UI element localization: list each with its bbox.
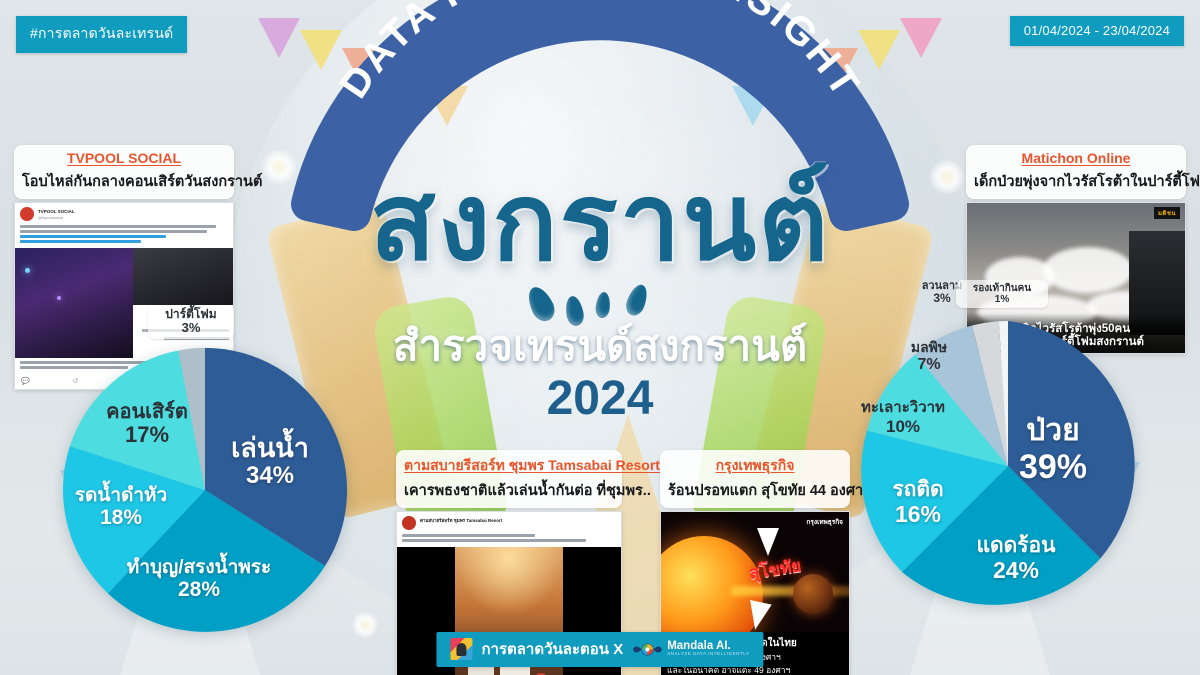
subtitle-year: 2024 xyxy=(290,371,910,426)
pie-chart-svg-right xyxy=(860,318,1156,614)
news-card-header: กรุงเทพธุรกิจ ร้อนปรอทแตก สุโขทัย 44 องศ… xyxy=(660,450,850,508)
news-card-header: ตามสบายรีสอร์ท ชุมพร Tamsabai Resort เคา… xyxy=(396,450,622,508)
news-card-header: TVPOOL SOCIAL โอบไหล่กันกลางคอนเสิร์ตวัน… xyxy=(14,145,234,199)
pie-chart-songkran-problems: ป่วย 39% แดดร้อน 24% รถติด 16% ทะเลาะวิว… xyxy=(860,318,1156,614)
news-headline: ร้อนปรอทแตก สุโขทัย 44 องศา xyxy=(668,479,842,502)
frangipani-icon xyxy=(352,612,378,638)
mandala-partner-block: Mandala AI. ANALYZE DATA INTELLIGENTLY xyxy=(632,641,749,658)
news-source-label: กรุงเทพธุรกิจ xyxy=(716,455,795,477)
post-body-text xyxy=(397,534,621,547)
mandala-emblem-icon xyxy=(632,641,662,658)
avatar xyxy=(20,207,34,221)
matichon-logo: มติชน xyxy=(1154,207,1180,219)
post-body-text xyxy=(15,225,233,248)
footer-brand-text: การตลาดวันละตอน X xyxy=(481,637,623,661)
pie-chart-songkran-activities: เล่นน้ำ 34% ทำบุญ/สรงน้ำพระ 28% รดน้ำดำห… xyxy=(60,345,350,635)
everyday-marketing-logo-icon xyxy=(450,638,472,660)
news-source-label: Matichon Online xyxy=(1022,150,1131,166)
frangipani-icon xyxy=(930,160,964,194)
krungthep-logo: กรุงเทพธุรกิจ xyxy=(806,517,843,527)
mandala-tagline: ANALYZE DATA INTELLIGENTLY xyxy=(667,652,749,657)
post-account-handle: @tvpoolsocial xyxy=(38,215,75,220)
reply-icon[interactable]: 💬 xyxy=(21,377,30,385)
news-source-label: ตามสบายรีสอร์ท ชุมพร Tamsabai Resort xyxy=(404,455,660,477)
news-headline: เคารพธงชาติแล้วเล่นน้ำกันต่อ ที่ชุมพร.. xyxy=(404,479,614,502)
footer-brand-bar: การตลาดวันละตอน X Mandala AI. ANALYZE DA… xyxy=(436,632,763,667)
pie-chart-svg-left xyxy=(60,345,350,635)
post-author-bar: ตามสบายรีสอร์ท ชุมพร Tamsabai Resort · xyxy=(397,512,621,534)
subtitle-text: สำรวจเทรนด์สงกรานต์ xyxy=(290,322,910,369)
avatar xyxy=(402,516,416,530)
post-image xyxy=(15,248,233,358)
subtitle-block: สำรวจเทรนด์สงกรานต์ 2024 xyxy=(290,322,910,426)
post-account-name: ตามสบายรีสอร์ท ชุมพร Tamsabai Resort xyxy=(420,517,502,524)
post-author-bar: TVPOOL SOCIAL @tvpoolsocial xyxy=(15,203,233,225)
news-headline: โอบไหล่กันกลางคอนเสิร์ตวันสงกรานต์ xyxy=(22,170,226,193)
post-account-name: TVPOOL SOCIAL xyxy=(38,209,75,214)
thailand-map-icon xyxy=(757,528,779,556)
hashtag-chip: #การตลาดวันละเทรนด์ xyxy=(16,16,187,53)
earth-icon xyxy=(793,574,833,614)
news-headline: เด็กป่วยพุ่งจากไวรัสโรต้าในปาร์ตี้โฟม xyxy=(974,170,1178,193)
date-range-chip: 01/04/2024 - 23/04/2024 xyxy=(1010,16,1184,46)
news-source-label: TVPOOL SOCIAL xyxy=(67,150,181,166)
thailand-map-icon xyxy=(744,600,771,632)
news-card-header: Matichon Online เด็กป่วยพุ่งจากไวรัสโรต้… xyxy=(966,145,1186,199)
hero-title-songkran: สงกรานต์ xyxy=(320,158,880,285)
infographic-canvas: #การตลาดวันละเทรนด์ 01/04/2024 - 23/04/2… xyxy=(0,0,1200,675)
photo-word-sukhothai: สุโขทัย xyxy=(747,552,803,587)
